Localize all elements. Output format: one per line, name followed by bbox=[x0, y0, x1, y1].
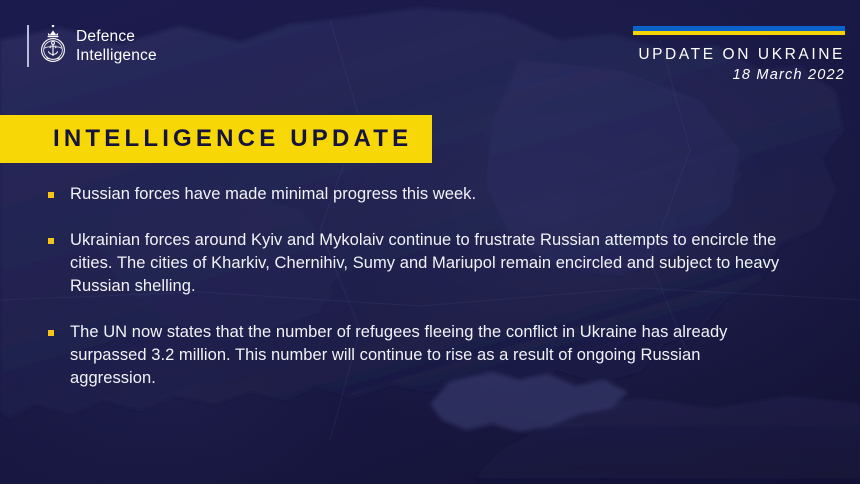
ukraine-flag-bar-icon bbox=[633, 26, 845, 35]
bullet-marker-icon bbox=[48, 238, 54, 244]
brand-name: Defence Intelligence bbox=[76, 27, 157, 65]
list-item: Russian forces have made minimal progres… bbox=[48, 183, 788, 206]
brand-line-2: Intelligence bbox=[76, 46, 157, 65]
bullet-marker-icon bbox=[48, 330, 54, 336]
banner-title: INTELLIGENCE UPDATE bbox=[53, 127, 412, 151]
bullet-text: Ukrainian forces around Kyiv and Mykolai… bbox=[70, 229, 788, 298]
bullet-text: The UN now states that the number of ref… bbox=[70, 321, 788, 390]
brand-line-1: Defence bbox=[76, 27, 157, 46]
bullet-marker-icon bbox=[48, 192, 54, 198]
slide-header: Defence Intelligence UPDATE ON UKRAINE 1… bbox=[0, 0, 860, 110]
defence-intelligence-branding: Defence Intelligence bbox=[27, 25, 157, 67]
bullet-list: Russian forces have made minimal progres… bbox=[48, 183, 788, 390]
list-item: The UN now states that the number of ref… bbox=[48, 321, 788, 390]
list-item: Ukrainian forces around Kyiv and Mykolai… bbox=[48, 229, 788, 298]
mod-crest-icon bbox=[38, 25, 68, 67]
update-title: UPDATE ON UKRAINE bbox=[633, 46, 845, 64]
intelligence-update-banner: INTELLIGENCE UPDATE bbox=[0, 115, 432, 163]
bullet-text: Russian forces have made minimal progres… bbox=[70, 183, 476, 206]
flag-stripe-yellow bbox=[633, 31, 845, 35]
intelligence-update-slide: Defence Intelligence UPDATE ON UKRAINE 1… bbox=[0, 0, 860, 484]
update-date: 18 March 2022 bbox=[633, 66, 845, 84]
brand-divider bbox=[27, 25, 29, 67]
header-right-block: UPDATE ON UKRAINE 18 March 2022 bbox=[633, 26, 845, 84]
